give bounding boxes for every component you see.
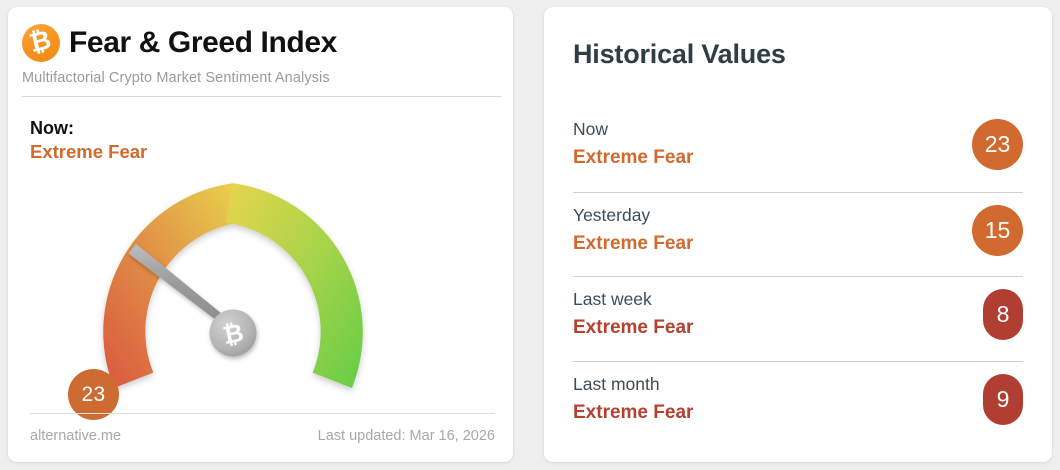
now-label: Now: bbox=[30, 117, 147, 140]
history-row: NowExtreme Fear23 bbox=[573, 107, 1023, 192]
history-row-classification: Extreme Fear bbox=[573, 402, 693, 424]
bitcoin-icon: ₿ bbox=[22, 24, 60, 62]
footer-divider bbox=[30, 413, 495, 414]
history-row-score-badge: 8 bbox=[983, 289, 1023, 340]
history-row-score-badge: 23 bbox=[972, 119, 1023, 170]
history-row: Last monthExtreme Fear9 bbox=[573, 361, 1023, 446]
history-row: Last weekExtreme Fear8 bbox=[573, 276, 1023, 361]
bitcoin-glyph: ₿ bbox=[27, 27, 54, 57]
fear-greed-gauge-panel: ₿ Fear & Greed Index Multifactorial Cryp… bbox=[8, 7, 513, 462]
gauge-panel-footer: alternative.me Last updated: Mar 16, 202… bbox=[30, 413, 495, 444]
history-row-label: Last week bbox=[573, 289, 652, 310]
history-row-classification: Extreme Fear bbox=[573, 233, 693, 255]
historical-values-list: NowExtreme Fear23YesterdayExtreme Fear15… bbox=[573, 107, 1023, 445]
source-label: alternative.me bbox=[30, 428, 121, 444]
page-title: Fear & Greed Index bbox=[69, 26, 337, 60]
historical-values-title: Historical Values bbox=[573, 39, 786, 70]
gauge-chart: ₿ 23 bbox=[8, 157, 513, 417]
history-row-classification: Extreme Fear bbox=[573, 147, 693, 169]
history-row-label: Now bbox=[573, 119, 608, 140]
history-row-classification: Extreme Fear bbox=[573, 317, 693, 339]
gauge-arc-right bbox=[226, 183, 363, 388]
last-updated-label: Last updated: Mar 16, 2026 bbox=[318, 428, 495, 444]
header-divider bbox=[22, 96, 502, 97]
historical-values-panel: Historical Values NowExtreme Fear23Yeste… bbox=[544, 7, 1052, 462]
history-row: YesterdayExtreme Fear15 bbox=[573, 192, 1023, 277]
title-row: ₿ Fear & Greed Index bbox=[22, 22, 499, 64]
page-subtitle: Multifactorial Crypto Market Sentiment A… bbox=[22, 70, 499, 86]
history-row-score-badge: 9 bbox=[983, 374, 1023, 425]
gauge-arc-group bbox=[103, 183, 363, 388]
history-row-score-badge: 15 bbox=[972, 205, 1023, 256]
history-row-label: Yesterday bbox=[573, 205, 650, 226]
gauge-panel-header: ₿ Fear & Greed Index Multifactorial Cryp… bbox=[22, 22, 499, 97]
history-row-label: Last month bbox=[573, 374, 660, 395]
app-root: ₿ Fear & Greed Index Multifactorial Cryp… bbox=[0, 0, 1060, 470]
